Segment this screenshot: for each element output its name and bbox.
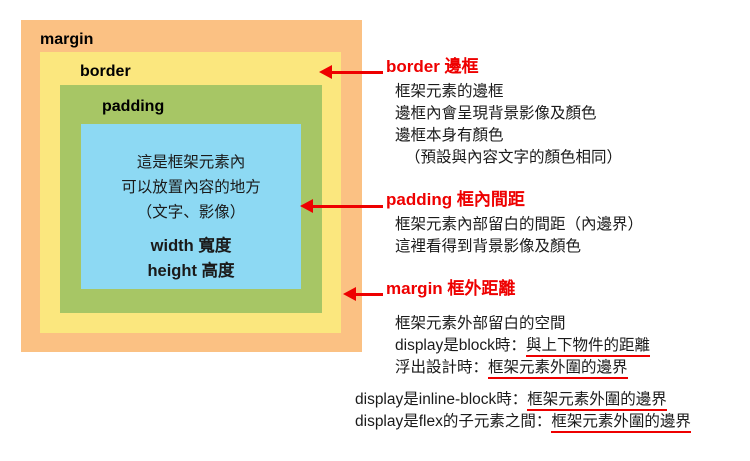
margin-annotation-heading: margin 框外距離 [386,279,650,299]
border-annotation-block: border 邊框 框架元素的邊框 邊框內會呈現背景影像及顏色 邊框本身有顏色 … [386,57,622,169]
margin-float-underlined: 框架元素外圍的邊界 [488,359,628,379]
content-line-1: 這是框架元素內 [81,150,301,175]
margin-float-prefix: 浮出設計時： [395,359,488,376]
padding-annotation-heading: padding 框內間距 [386,190,643,210]
border-line-2: 邊框內會呈現背景影像及顏色 [395,103,622,125]
margin-flex-underlined: 框架元素外圍的邊界 [551,413,691,433]
padding-annotation-block: padding 框內間距 框架元素內部留白的間距（內邊界） 這裡看得到背景影像及… [386,190,643,258]
content-width-label: width 寬度 [81,234,301,259]
margin-annotation-lines: 框架元素外部留白的空間 display是block時：與上下物件的距離 浮出設計… [386,303,650,379]
content-height-label: height 高度 [81,259,301,284]
border-annotation-lines: 框架元素的邊框 邊框內會呈現背景影像及顏色 邊框本身有顏色 （預設與內容文字的顏… [386,81,622,169]
margin-display-block-underlined: 與上下物件的距離 [526,337,650,357]
margin-display-block-prefix: display是block時： [395,337,526,354]
border-line-3: 邊框本身有顏色 [395,125,622,147]
annotation-column: border 邊框 框架元素的邊框 邊框內會呈現背景影像及顏色 邊框本身有顏色 … [386,0,750,461]
margin-inline-block-underlined: 框架元素外圍的邊界 [527,391,667,411]
padding-annotation-lines: 框架元素內部留白的間距（內邊界） 這裡看得到背景影像及顏色 [386,214,643,258]
border-line-4: （預設與內容文字的顏色相同） [395,147,622,169]
content-spacer [81,225,301,234]
content-line-2: 可以放置內容的地方 [81,175,301,200]
content-text-block: 這是框架元素內 可以放置內容的地方 （文字、影像） width 寬度 heigh… [81,150,301,284]
content-line-3: （文字、影像） [81,200,301,225]
margin-layer-label: margin [40,32,93,48]
margin-line-1: 框架元素外部留白的空間 [395,313,650,335]
margin-inline-block-prefix: display是inline-block時： [355,391,527,408]
border-line-1: 框架元素的邊框 [395,81,622,103]
margin-annotation-block: margin 框外距離 框架元素外部留白的空間 display是block時：與… [386,279,650,379]
box-model-diagram: margin border padding 這是框架元素內 可以放置內容的地方 … [21,20,362,352]
margin-line-flex: display是flex的子元素之間：框架元素外圍的邊界 [355,411,691,433]
padding-line-1: 框架元素內部留白的間距（內邊界） [395,214,643,236]
content-layer: 這是框架元素內 可以放置內容的地方 （文字、影像） width 寬度 heigh… [81,124,301,289]
border-layer-label: border [80,64,131,80]
margin-line-display-block: display是block時：與上下物件的距離 [395,335,650,357]
margin-line-float: 浮出設計時：框架元素外圍的邊界 [395,357,650,379]
margin-extra-lines: display是inline-block時：框架元素外圍的邊界 display是… [355,389,691,433]
border-annotation-heading: border 邊框 [386,57,622,77]
padding-layer-label: padding [102,99,164,115]
margin-line-inline-block: display是inline-block時：框架元素外圍的邊界 [355,389,691,411]
margin-flex-prefix: display是flex的子元素之間： [355,413,551,430]
padding-line-2: 這裡看得到背景影像及顏色 [395,236,643,258]
